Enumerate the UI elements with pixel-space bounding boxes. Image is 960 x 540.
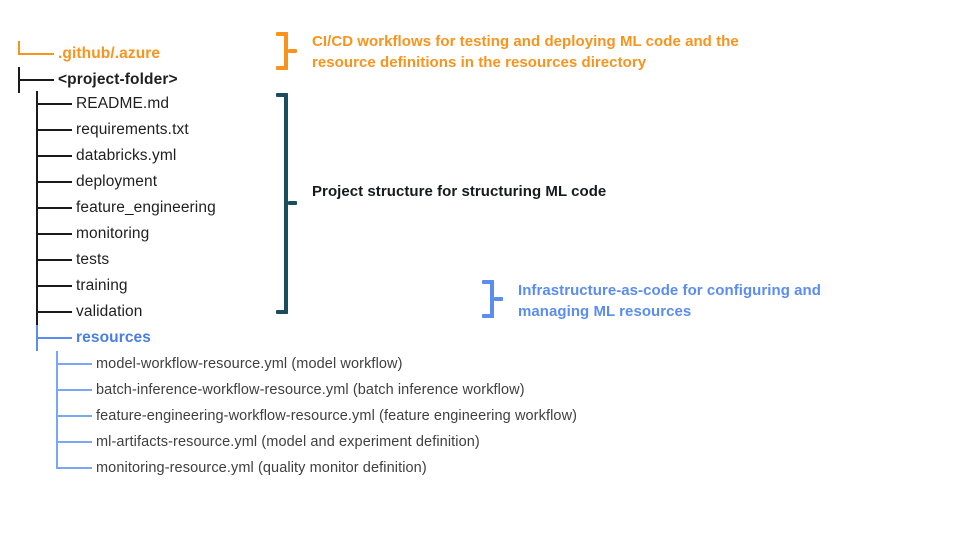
- tree-item-label: requirements.txt: [76, 122, 189, 138]
- iac-annotation-text: Infrastructure-as-code for configuring a…: [518, 280, 918, 322]
- project-structure-diagram: .github/.azure <project-folder> README.m…: [0, 0, 960, 540]
- project-structure-annotation-text: Project structure for structuring ML cod…: [312, 181, 732, 202]
- tree-connector-icon: [36, 221, 76, 247]
- tree-item-label: batch-inference-workflow-resource.yml (b…: [96, 383, 525, 398]
- tree-item-label: <project-folder>: [58, 72, 178, 88]
- tree-item-model-workflow-resource[interactable]: model-workflow-resource.yml (model workf…: [56, 351, 403, 377]
- tree-item-label: training: [76, 278, 128, 294]
- tree-item-label: resources: [76, 330, 151, 346]
- tree-item-project-folder[interactable]: <project-folder>: [18, 67, 178, 93]
- cicd-annotation-line-1: CI/CD workflows for testing and deployin…: [312, 31, 872, 52]
- tree-item-label: .github/.azure: [58, 46, 160, 62]
- iac-annotation-line-2: managing ML resources: [518, 301, 918, 322]
- tree-item-label: README.md: [76, 96, 169, 112]
- tree-connector-icon: [36, 195, 76, 221]
- tree-connector-icon: [18, 67, 58, 93]
- tree-item-label: tests: [76, 252, 109, 268]
- tree-item-monitoring[interactable]: monitoring: [36, 221, 149, 247]
- tree-item-validation[interactable]: validation: [36, 299, 143, 325]
- tree-item-label: feature_engineering: [76, 200, 216, 216]
- tree-connector-icon: [56, 377, 96, 403]
- tree-item-monitoring-resource[interactable]: monitoring-resource.yml (quality monitor…: [56, 455, 427, 481]
- project-structure-bracket-icon: [276, 93, 298, 314]
- tree-connector-icon: [36, 91, 76, 117]
- cicd-bracket-icon: [276, 32, 298, 70]
- iac-bracket-icon: [482, 280, 504, 318]
- tree-item-label: feature-engineering-workflow-resource.ym…: [96, 409, 577, 424]
- tree-item-resources[interactable]: resources: [36, 325, 151, 351]
- tree-connector-icon: [56, 403, 96, 429]
- tree-connector-icon: [56, 429, 96, 455]
- tree-item-tests[interactable]: tests: [36, 247, 109, 273]
- tree-item-databricks-yml[interactable]: databricks.yml: [36, 143, 176, 169]
- tree-connector-icon: [36, 117, 76, 143]
- tree-connector-icon: [56, 455, 96, 481]
- tree-item-ml-artifacts-resource[interactable]: ml-artifacts-resource.yml (model and exp…: [56, 429, 480, 455]
- tree-item-label: model-workflow-resource.yml (model workf…: [96, 357, 403, 372]
- tree-item-feature-engineering-workflow-resource[interactable]: feature-engineering-workflow-resource.ym…: [56, 403, 577, 429]
- tree-item-requirements[interactable]: requirements.txt: [36, 117, 189, 143]
- tree-item-deployment[interactable]: deployment: [36, 169, 157, 195]
- tree-connector-icon: [36, 325, 76, 351]
- tree-item-readme[interactable]: README.md: [36, 91, 169, 117]
- tree-connector-icon: [36, 299, 76, 325]
- tree-item-label: monitoring: [76, 226, 149, 242]
- tree-connector-icon: [36, 169, 76, 195]
- tree-connector-icon: [56, 351, 96, 377]
- tree-item-label: databricks.yml: [76, 148, 176, 164]
- tree-item-batch-inference-workflow-resource[interactable]: batch-inference-workflow-resource.yml (b…: [56, 377, 525, 403]
- tree-item-label: ml-artifacts-resource.yml (model and exp…: [96, 435, 480, 450]
- tree-item-training[interactable]: training: [36, 273, 128, 299]
- tree-item-github-azure[interactable]: .github/.azure: [18, 41, 160, 67]
- tree-item-feature-engineering[interactable]: feature_engineering: [36, 195, 216, 221]
- tree-item-label: monitoring-resource.yml (quality monitor…: [96, 461, 427, 476]
- tree-connector-icon: [36, 143, 76, 169]
- cicd-annotation-line-2: resource definitions in the resources di…: [312, 52, 872, 73]
- tree-connector-icon: [36, 273, 76, 299]
- project-structure-annotation-line-1: Project structure for structuring ML cod…: [312, 181, 732, 202]
- cicd-annotation-text: CI/CD workflows for testing and deployin…: [312, 31, 872, 73]
- tree-connector-icon: [36, 247, 76, 273]
- iac-annotation-line-1: Infrastructure-as-code for configuring a…: [518, 280, 918, 301]
- tree-item-label: deployment: [76, 174, 157, 190]
- tree-item-label: validation: [76, 304, 143, 320]
- tree-connector-icon: [18, 41, 58, 67]
